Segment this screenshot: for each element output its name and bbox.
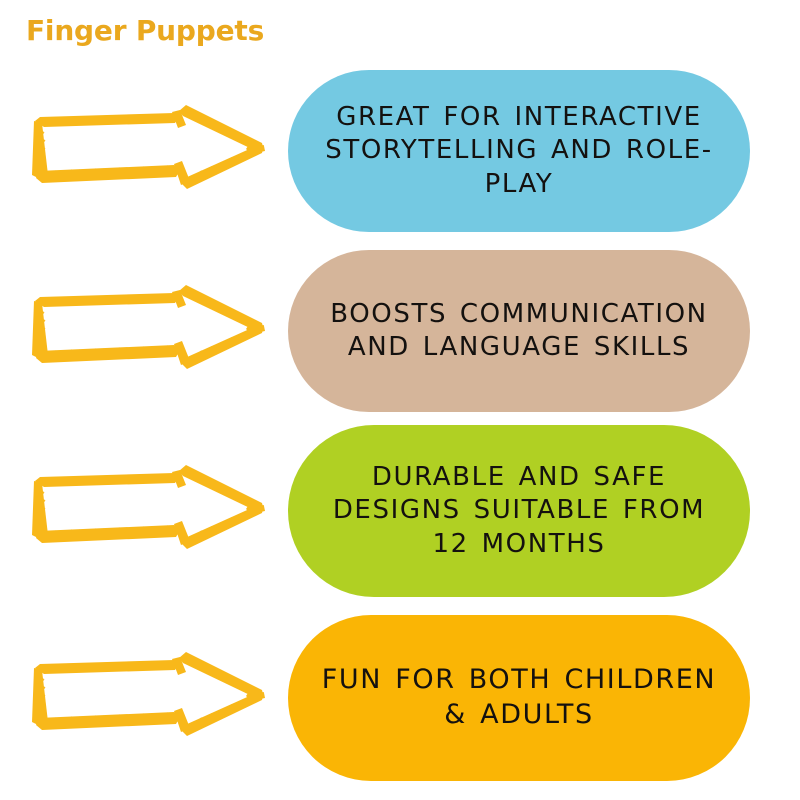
arrow-cell-3 [0,425,288,597]
benefit-row: Durable and safe designs suitable from 1… [0,425,800,597]
benefit-row: Boosts communication and language skills [0,250,800,412]
benefit-text: Great for interactive storytelling and r… [314,101,724,201]
arrow-cell-4 [0,615,288,781]
infographic-canvas: Finger Puppets [0,0,800,800]
benefit-text: Fun for both children & adults [314,663,724,732]
benefit-row: Great for interactive storytelling and r… [0,70,800,232]
benefit-text: Durable and safe designs suitable from 1… [314,461,724,561]
arrow-cell-1 [0,70,288,232]
benefit-text: Boosts communication and language skills [314,298,724,365]
hand-drawn-right-arrow-icon [24,459,272,563]
hand-drawn-right-arrow-icon [24,99,272,203]
hand-drawn-right-arrow-icon [24,646,272,750]
benefit-pill[interactable]: Great for interactive storytelling and r… [288,70,750,232]
hand-drawn-right-arrow-icon [24,279,272,383]
benefit-pill[interactable]: Fun for both children & adults [288,615,750,781]
benefit-pill[interactable]: Durable and safe designs suitable from 1… [288,425,750,597]
arrow-cell-2 [0,250,288,412]
benefit-row: Fun for both children & adults [0,615,800,781]
benefit-pill[interactable]: Boosts communication and language skills [288,250,750,412]
page-title: Finger Puppets [26,14,264,47]
